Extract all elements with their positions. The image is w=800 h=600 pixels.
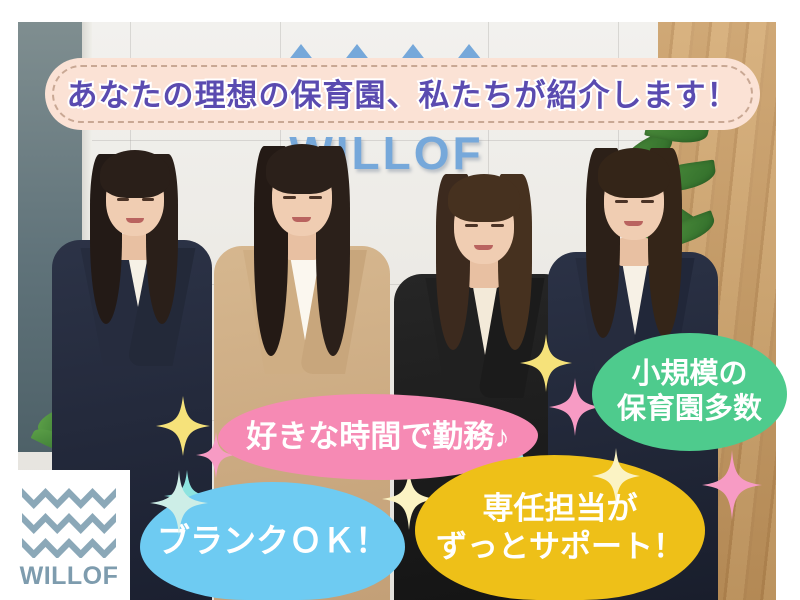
person-4-bangs <box>598 148 670 198</box>
willof-logo-card: WILLOF <box>8 470 130 600</box>
ad-creative: WILLOF <box>0 0 800 600</box>
person-2-bangs <box>266 144 338 194</box>
person-2-mouth <box>292 217 311 222</box>
person-4-eye <box>615 200 628 203</box>
bubble-yellow-text: 専任担当が ずっとサポート！ <box>436 490 684 566</box>
person-3-neck <box>468 260 500 288</box>
person-4-eye <box>641 200 654 203</box>
person-1-eye <box>117 198 129 201</box>
person-1-mouth <box>126 218 144 223</box>
bubble-yellow-line-1: 専任担当が <box>436 490 684 528</box>
person-1-bangs <box>100 150 170 198</box>
bubble-blank-ok: ブランクＯＫ！ <box>140 482 405 600</box>
headline-banner: あなたの理想の保育園、私たちが紹介します！ <box>45 58 760 130</box>
person-2-eye <box>309 196 322 199</box>
person-2-eye <box>283 196 296 199</box>
headline-text: あなたの理想の保育園、私たちが紹介します！ <box>45 70 760 115</box>
bubble-pink-text: 好きな時間で勤務♪ <box>246 418 510 456</box>
bubble-green-text: 小規模の 保育園多数 <box>617 357 762 428</box>
willof-logo-text: WILLOF <box>8 562 130 591</box>
person-3-bangs <box>448 174 520 222</box>
bubble-small-nursery: 小規模の 保育園多数 <box>592 333 787 451</box>
person-3-eye <box>491 224 504 227</box>
person-3-mouth <box>474 245 493 250</box>
person-2-neck <box>286 232 318 260</box>
person-4-mouth <box>624 221 643 226</box>
bubble-green-line-2: 保育園多数 <box>617 392 762 427</box>
bubble-yellow-line-2: ずっとサポート！ <box>436 528 684 566</box>
bubble-dedicated-support: 専任担当が ずっとサポート！ <box>415 455 705 600</box>
person-3-eye <box>465 224 478 227</box>
person-4-neck <box>618 238 650 266</box>
willof-zigzag-icon <box>22 484 116 558</box>
person-1-eye <box>142 198 154 201</box>
bubble-blue-text: ブランクＯＫ！ <box>157 521 388 561</box>
bubble-green-line-1: 小規模の <box>617 357 762 392</box>
